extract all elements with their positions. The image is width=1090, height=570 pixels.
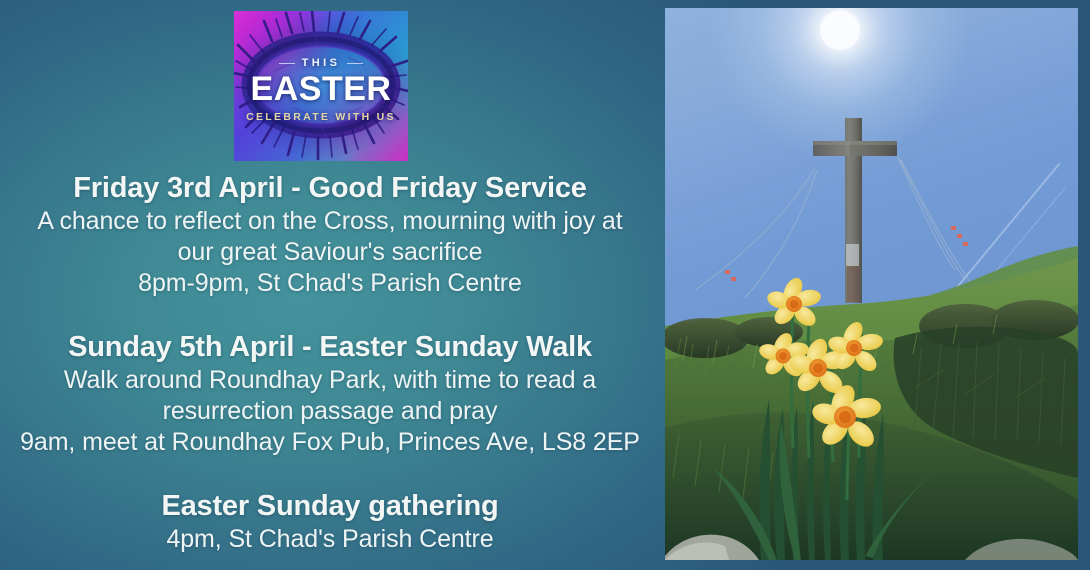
- logo-headline: EASTER: [234, 70, 408, 108]
- event-line: 9am, meet at Roundhay Fox Pub, Princes A…: [0, 427, 660, 458]
- event-block-easter-sunday-gathering: Easter Sunday gathering 4pm, St Chad's P…: [0, 488, 660, 555]
- event-title: Sunday 5th April - Easter Sunday Walk: [0, 329, 660, 365]
- event-line: A chance to reflect on the Cross, mourni…: [0, 206, 660, 237]
- event-list: Friday 3rd April - Good Friday Service A…: [0, 170, 660, 555]
- event-block-good-friday: Friday 3rd April - Good Friday Service A…: [0, 170, 660, 299]
- event-block-easter-sunday-walk: Sunday 5th April - Easter Sunday Walk Wa…: [0, 329, 660, 458]
- logo-eyebrow: THIS: [234, 57, 408, 69]
- logo-rule-left: [279, 63, 295, 64]
- event-line: 4pm, St Chad's Parish Centre: [0, 524, 660, 555]
- this-easter-logo: THIS EASTER CELEBRATE WITH US: [234, 11, 408, 161]
- event-line: 8pm-9pm, St Chad's Parish Centre: [0, 268, 660, 299]
- cross-hillside-photo: [665, 8, 1078, 560]
- logo-tagline: CELEBRATE WITH US: [234, 111, 408, 123]
- event-line: resurrection passage and pray: [0, 396, 660, 427]
- event-title: Friday 3rd April - Good Friday Service: [0, 170, 660, 206]
- easter-poster: THIS EASTER CELEBRATE WITH US Friday 3rd…: [0, 0, 1090, 570]
- logo-text-group: THIS EASTER CELEBRATE WITH US: [234, 57, 408, 123]
- event-line: Walk around Roundhay Park, with time to …: [0, 365, 660, 396]
- event-line: our great Saviour's sacrifice: [0, 237, 660, 268]
- event-title: Easter Sunday gathering: [0, 488, 660, 524]
- photo-artwork: [665, 8, 1078, 560]
- logo-rule-right: [347, 63, 363, 64]
- logo-eyebrow-label: THIS: [302, 57, 341, 69]
